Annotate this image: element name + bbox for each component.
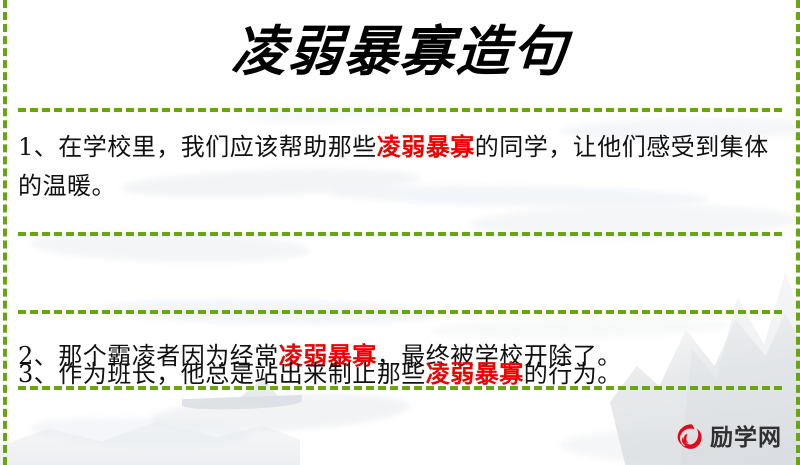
red-swirl-flame-icon	[670, 421, 704, 455]
page-title: 凌弱暴寡造句	[0, 22, 800, 81]
sentence-text-after: 的行为。	[524, 360, 622, 388]
mist-wash	[30, 414, 251, 450]
site-brand-label: 励学网	[710, 427, 782, 450]
sentence-number: 3、	[18, 360, 58, 388]
worksheet-page: 凌弱暴寡造句 1、在学校里，我们应该帮助那些凌弱暴寡的同学，让他们感受到集体的温…	[0, 0, 800, 465]
sentence-text-before: 作为班长，他总是站出来制止那些	[58, 360, 426, 388]
sentence-text-before: 在学校里，我们应该帮助那些	[58, 133, 377, 161]
keyword-highlight: 凌弱暴寡	[377, 132, 475, 161]
keyword-highlight: 凌弱暴寡	[426, 359, 524, 388]
site-watermark: 励学网	[670, 421, 782, 455]
sentence-number: 1、	[18, 133, 58, 161]
list-item: 1、在学校里，我们应该帮助那些凌弱暴寡的同学，让他们感受到集体的温暖。	[18, 108, 782, 194]
sentence-list: 1、在学校里，我们应该帮助那些凌弱暴寡的同学，让他们感受到集体的温暖。 2、那个…	[18, 108, 782, 412]
list-item: 2、那个霸凌者因为经常凌弱暴寡，最终被学校开除了。	[18, 194, 782, 336]
